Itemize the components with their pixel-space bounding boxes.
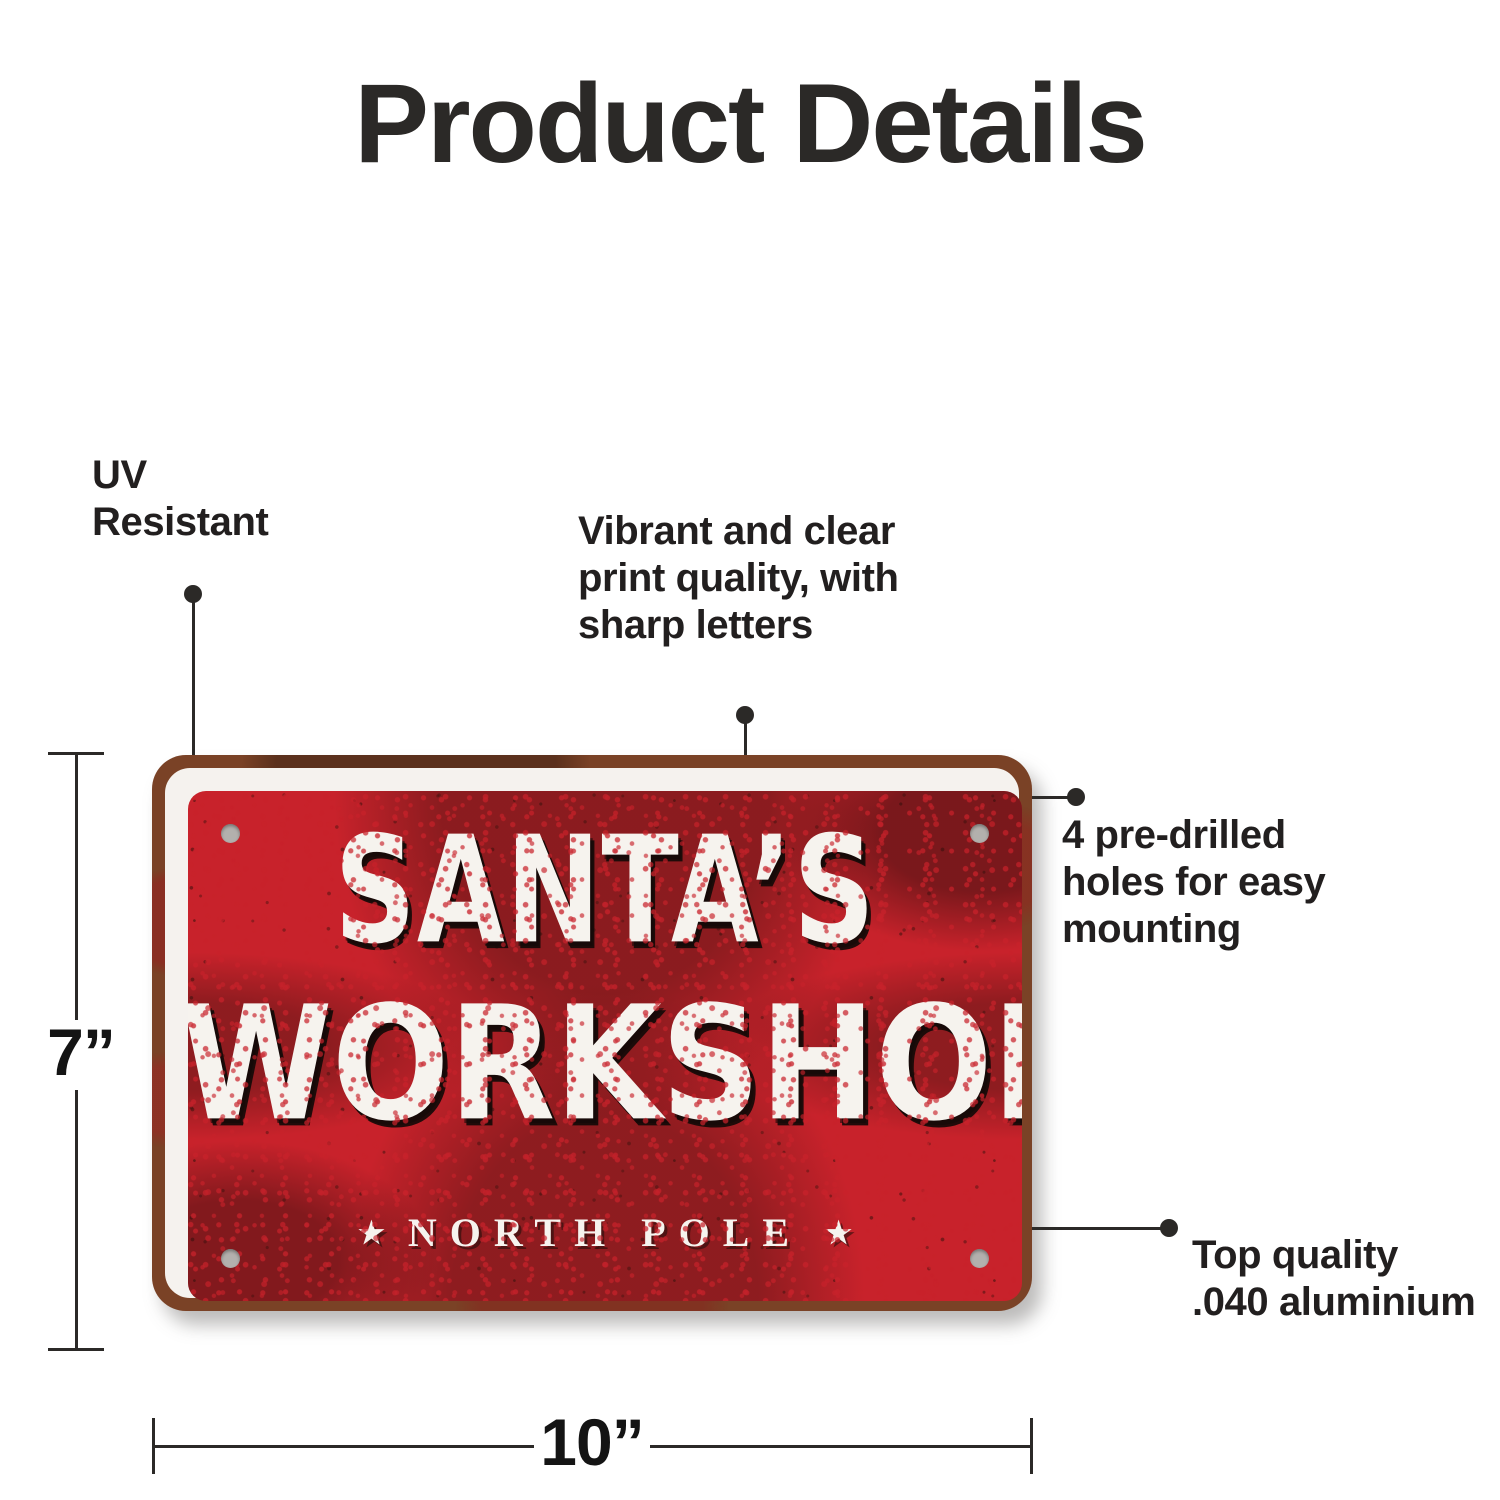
sign-text-block: SANTA’S WORKSHOP ★ NORTH POLE ★ [188, 791, 1022, 1301]
product-sign: SANTA’S WORKSHOP ★ NORTH POLE ★ [152, 755, 1032, 1311]
sign-inner-white-border: SANTA’S WORKSHOP ★ NORTH POLE ★ [165, 768, 1019, 1298]
star-icon-left: ★ [358, 1217, 385, 1250]
dimension-label-height: 7” [36, 1014, 126, 1090]
sign-red-face: SANTA’S WORKSHOP ★ NORTH POLE ★ [188, 791, 1022, 1301]
leader-dot-pre-drilled-holes-end [1067, 788, 1085, 806]
page-title: Product Details [0, 62, 1500, 185]
dimension-line-height-upper [75, 752, 78, 1020]
sign-distress-texture [188, 791, 1022, 1301]
sign-edge-wear-texture [188, 791, 1022, 1301]
letter-distress-overlay [188, 791, 1022, 1301]
mounting-hole-bottom-left [221, 1249, 240, 1268]
callout-pre-drilled-holes: 4 pre-drilled holes for easy mounting [1062, 812, 1482, 952]
sign-headline-second: WORKSHOP [188, 986, 1022, 1144]
dimension-label-width: 10” [530, 1404, 654, 1480]
callout-material: Top quality .040 aluminium [1192, 1232, 1492, 1326]
leader-dot-print-quality-start [736, 706, 754, 724]
callout-print-quality: Vibrant and clear print quality, with sh… [578, 508, 1098, 648]
sign-metal-plate: SANTA’S WORKSHOP ★ NORTH POLE ★ [152, 755, 1032, 1311]
mounting-hole-bottom-right [970, 1249, 989, 1268]
leader-dot-uv-resistant-start [184, 585, 202, 603]
sign-subline-text: NORTH POLE [408, 1210, 802, 1255]
product-details-infographic: Product Details UV Resistant Vibrant and… [0, 0, 1500, 1500]
star-icon-right: ★ [825, 1217, 852, 1250]
callout-uv-resistant: UV Resistant [92, 452, 412, 546]
dimension-line-width-left [152, 1445, 534, 1448]
sign-subline: ★ NORTH POLE ★ [188, 1209, 1022, 1256]
dimension-line-height-lower [75, 1090, 78, 1350]
sign-headline-first: SANTA’S [246, 817, 963, 965]
mounting-hole-top-left [221, 824, 240, 843]
mounting-hole-top-right [970, 824, 989, 843]
leader-dot-material-end [1160, 1219, 1178, 1237]
dimension-line-width-right [650, 1445, 1033, 1448]
